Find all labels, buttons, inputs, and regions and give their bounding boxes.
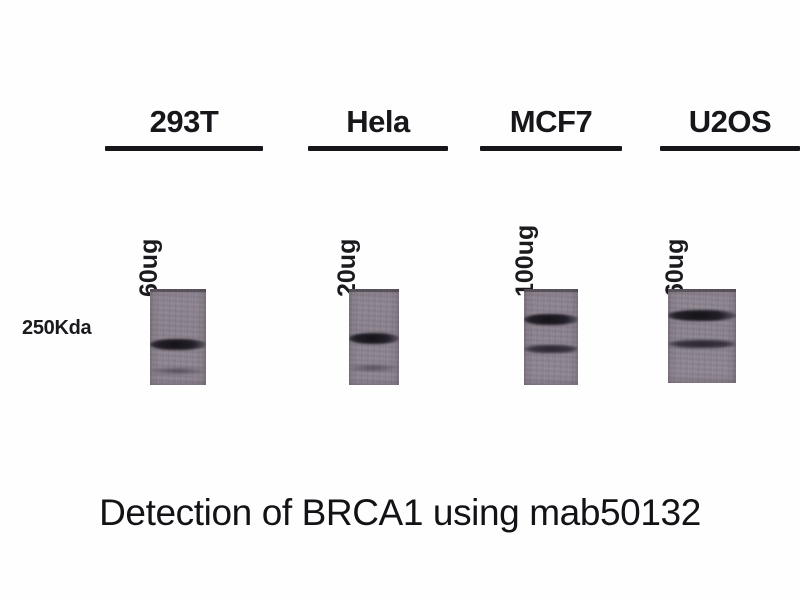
protein-band-mcf7-1 bbox=[524, 314, 578, 325]
lane-underline-u2os bbox=[660, 146, 800, 151]
molecular-weight-marker-label: 250Kda bbox=[22, 317, 91, 340]
protein-band-293t-1 bbox=[150, 339, 206, 350]
lane-title-u2os: U2OS bbox=[660, 106, 800, 137]
lane-amount-mcf7: 100ug bbox=[513, 225, 538, 297]
lane-header-hela: Hela bbox=[308, 106, 448, 151]
blot-lane-mcf7 bbox=[524, 289, 578, 385]
lane-title-hela: Hela bbox=[308, 106, 448, 137]
protein-band-u2os-2 bbox=[668, 340, 736, 348]
lane-underline-293t bbox=[105, 146, 263, 151]
blot-lane-u2os bbox=[668, 289, 736, 383]
lane-underline-hela bbox=[308, 146, 448, 151]
figure-caption: Detection of BRCA1 using mab50132 bbox=[0, 492, 800, 534]
western-blot-figure: 293THelaMCF7U2OS 60ug20ug100ug60ug 250Kd… bbox=[0, 0, 800, 600]
lane-top-edge bbox=[524, 289, 578, 292]
lane-top-edge bbox=[150, 289, 206, 292]
lane-title-mcf7: MCF7 bbox=[480, 106, 622, 137]
blot-lane-293t bbox=[150, 289, 206, 385]
lane-title-293t: 293T bbox=[105, 106, 263, 137]
lane-top-edge bbox=[668, 289, 736, 292]
lane-underline-mcf7 bbox=[480, 146, 622, 151]
protein-band-hela-1 bbox=[349, 333, 399, 344]
blot-lane-hela bbox=[349, 289, 399, 385]
lane-top-edge bbox=[349, 289, 399, 292]
lane-header-mcf7: MCF7 bbox=[480, 106, 622, 151]
lane-header-293t: 293T bbox=[105, 106, 263, 151]
lane-header-u2os: U2OS bbox=[660, 106, 800, 151]
protein-band-293t-2 bbox=[150, 368, 206, 374]
protein-band-hela-2 bbox=[349, 365, 399, 371]
protein-band-mcf7-2 bbox=[524, 345, 578, 353]
protein-band-u2os-1 bbox=[668, 310, 736, 321]
